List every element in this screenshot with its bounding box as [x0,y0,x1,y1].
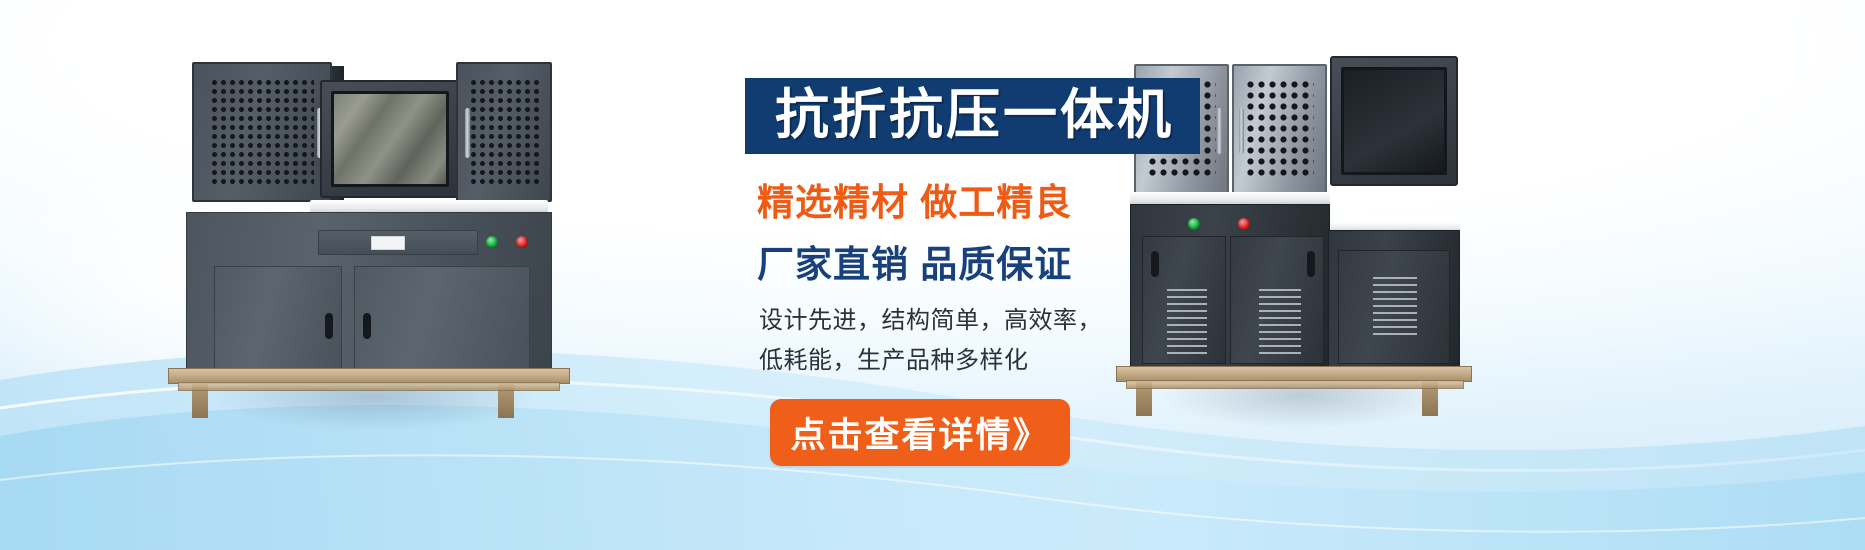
pallet-board [178,382,560,391]
lower-door-left [214,266,342,370]
monitor-screen [331,91,449,187]
description-line-1: 设计先进，结构简单，高效率， [759,302,1285,340]
monitor-screen [1341,67,1447,175]
door-handle [1307,251,1315,277]
product-promo-banner: 抗折抗压一体机 精选精材 做工精良 厂家直销 品质保证 设计先进，结构简单，高效… [0,0,1865,550]
headline-orange: 精选精材 做工精良 [757,172,1285,226]
indicator-light-green [486,236,498,248]
promo-copy-block: 抗折抗压一体机 精选精材 做工精良 厂家直销 品质保证 设计先进，结构简单，高效… [745,78,1285,380]
headline-blue: 厂家直销 品质保证 [757,234,1285,288]
control-monitor [320,80,460,198]
ventilation-louvers [1373,277,1417,339]
title-banner: 抗折抗压一体机 [745,78,1200,154]
lower-door-pump [1338,250,1450,364]
control-drawer [318,230,478,255]
lower-door-right [354,266,530,370]
view-details-button[interactable]: 点击查看详情》 [770,399,1070,466]
perforation-pattern [469,78,539,187]
indicator-light-red [516,236,528,248]
control-monitor [1330,56,1458,186]
door-handle [465,108,470,158]
description-line-2: 低耗能，生产品种多样化 [759,342,1285,380]
door-handle [325,313,333,339]
drawer-label [371,236,405,250]
page-title: 抗折抗压一体机 [775,88,1174,142]
product-image-left [168,52,568,422]
perforation-pattern [210,78,313,187]
top-right-perforated-door [456,62,552,202]
pallet-board [1126,380,1464,389]
door-handle [363,313,371,339]
top-left-perforated-door [192,62,332,202]
